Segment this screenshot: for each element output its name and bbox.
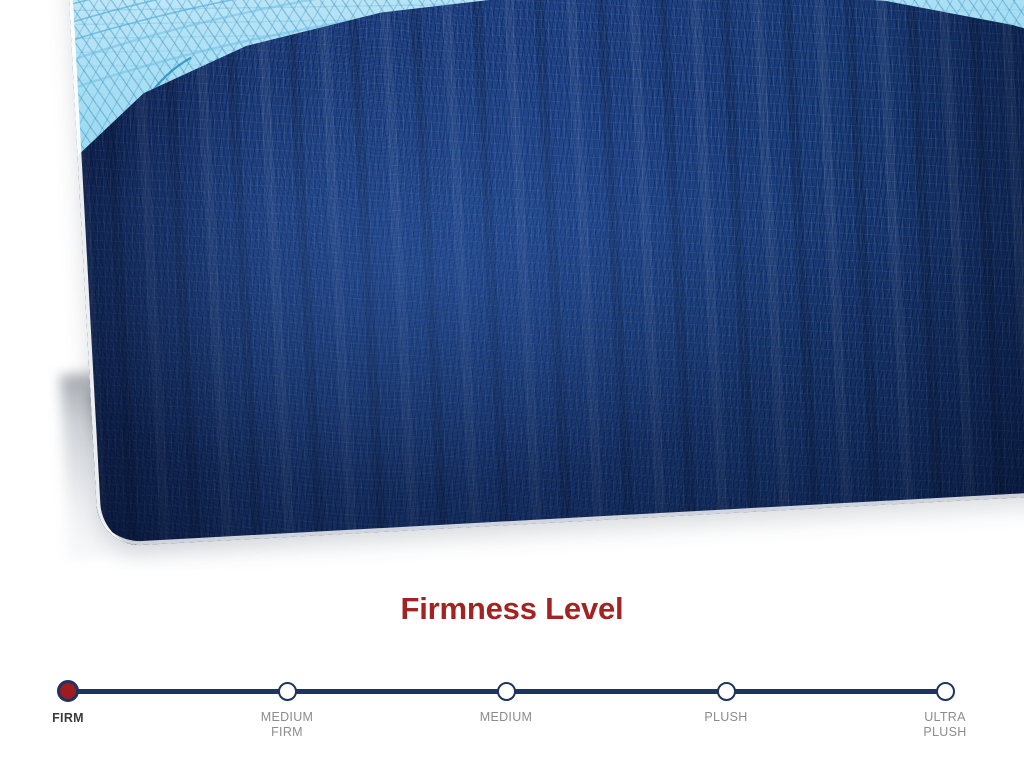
firmness-stop-medium-firm[interactable]: MEDIUM FIRM <box>217 665 357 739</box>
firmness-dot-icon[interactable] <box>278 682 297 701</box>
product-image <box>0 0 1024 570</box>
firmness-dot-icon[interactable] <box>717 682 736 701</box>
firmness-stop-firm[interactable]: FIRM <box>0 665 138 726</box>
mattress-base-shading <box>62 0 1024 547</box>
firmness-stop-medium[interactable]: MEDIUM <box>436 665 576 725</box>
firmness-dot-icon[interactable] <box>57 680 79 702</box>
firmness-dot-icon[interactable] <box>497 682 516 701</box>
firmness-level-section: Firmness Level FIRM MEDIUM FIRM MEDIUM P… <box>0 575 1024 768</box>
firmness-scale[interactable]: FIRM MEDIUM FIRM MEDIUM PLUSH ULTRA PLUS… <box>0 665 1024 765</box>
firmness-title: Firmness Level <box>0 591 1024 627</box>
firmness-stop-ultra-plush[interactable]: ULTRA PLUSH <box>875 665 1015 739</box>
firmness-stop-label: FIRM <box>0 711 138 726</box>
firmness-stop-label: MEDIUM FIRM <box>217 710 357 739</box>
mattress <box>62 0 1024 547</box>
firmness-stop-label: MEDIUM <box>436 710 576 725</box>
firmness-stop-plush[interactable]: PLUSH <box>656 665 796 725</box>
firmness-dot-icon[interactable] <box>936 682 955 701</box>
firmness-stop-label: ULTRA PLUSH <box>875 710 1015 739</box>
firmness-stop-label: PLUSH <box>656 710 796 725</box>
